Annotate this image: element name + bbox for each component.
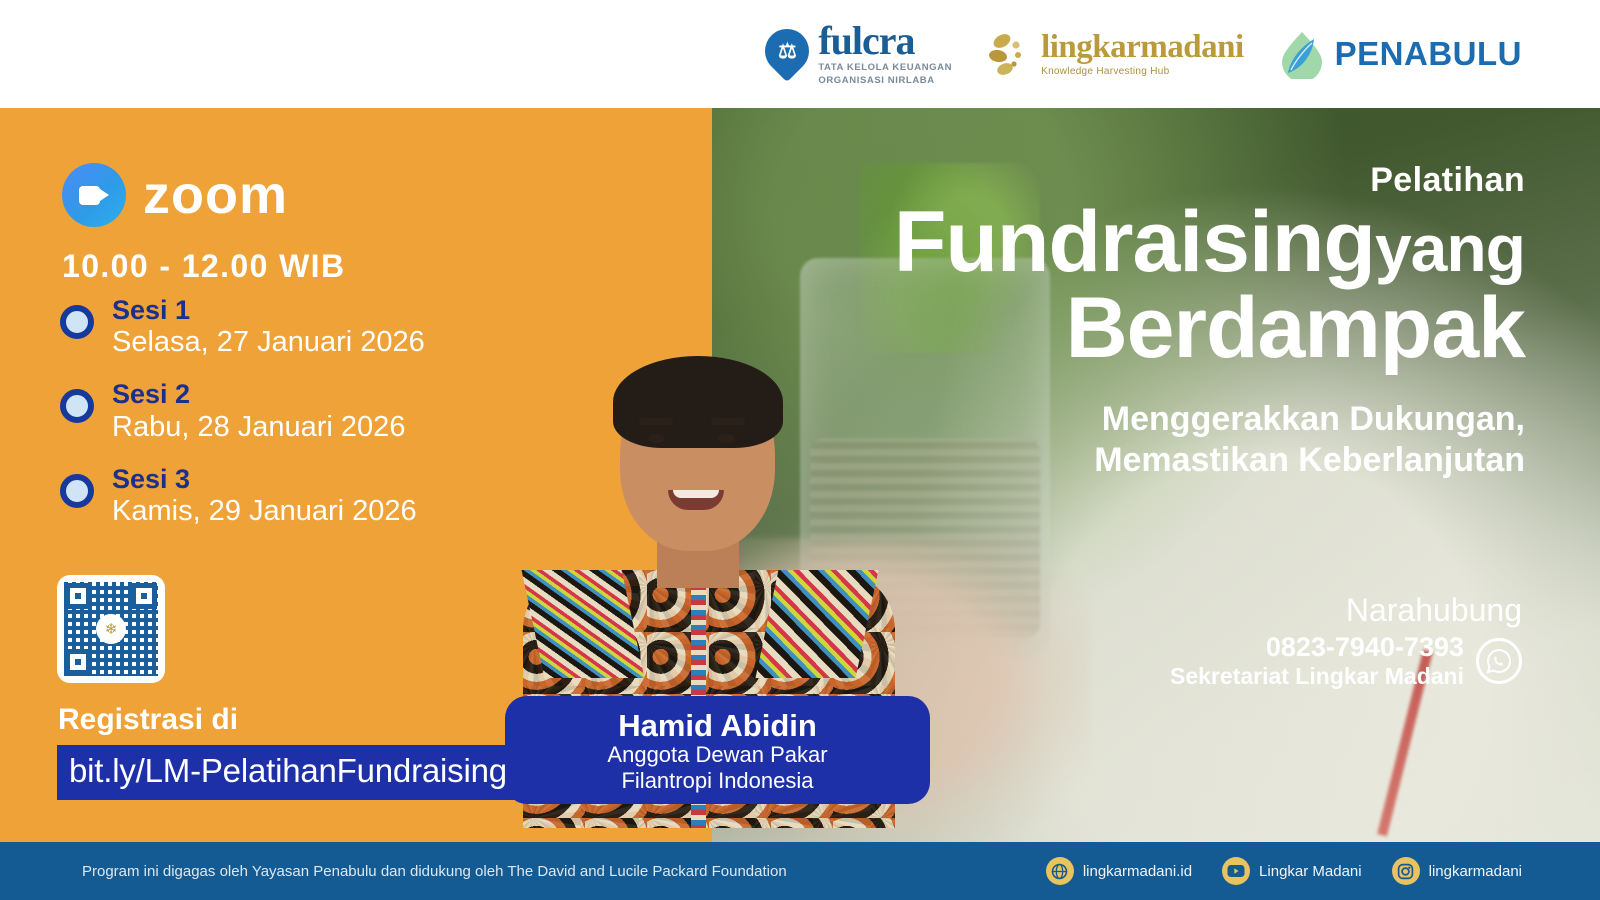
lingkarmadani-logo: lingkarmadani Knowledge Harvesting Hub [986,29,1244,79]
social-links: lingkarmadani.id Lingkar Madani lingkarm… [1046,857,1522,885]
headline-line1: Fundraisingyang [894,199,1525,285]
headline-subtitle: Menggerakkan Dukungan, Memastikan Keberl… [894,399,1525,482]
session-title: Sesi 1 [112,296,425,325]
speaker-role-line1: Anggota Dewan Pakar [505,742,930,767]
lingkarmadani-wordmark: lingkarmadani [1041,31,1244,64]
social-website-label: lingkarmadani.id [1083,863,1192,880]
balance-scale-pin-icon: ⚖ [765,29,809,79]
session-time: 10.00 - 12.00 WIB [62,248,346,285]
penabulu-wordmark: PENABULU [1335,35,1522,73]
fulcra-tagline-2: ORGANISASI NIRLABA [818,75,952,87]
instagram-icon [1392,857,1420,885]
youtube-icon [1222,857,1250,885]
penabulu-logo: PENABULU [1278,29,1522,79]
contact-phone[interactable]: 0823-7940-7393 [1170,632,1464,663]
zoom-video-camera-icon [62,163,126,227]
bullet-icon [60,389,94,423]
fulcra-wordmark: fulcra [818,21,952,61]
fulcra-logo: ⚖ fulcra TATA KELOLA KEUANGAN ORGANISASI… [765,21,952,87]
green-leaf-feather-icon [1278,29,1326,79]
whatsapp-icon[interactable] [1476,638,1522,684]
hair [613,356,783,448]
headline-line2: Berdampak [894,285,1525,371]
social-instagram-label: lingkarmadani [1429,863,1522,880]
headline-subtitle-line1: Menggerakkan Dukungan, [894,399,1525,440]
registration-link[interactable]: bit.ly/LM-PelatihanFundraising [57,745,519,800]
headline-line1-bold: Fundraising [894,194,1375,290]
social-instagram[interactable]: lingkarmadani [1392,857,1522,885]
main-content: Pelatihan Fundraisingyang Berdampak Meng… [0,108,1600,842]
session-title: Sesi 2 [112,380,405,409]
lingkarmadani-petals-icon: ❄ [96,614,126,644]
headline-subtitle-line2: Memastikan Keberlanjutan [894,440,1525,481]
eyebrow-left [639,418,673,425]
contact-block: Narahubung 0823-7940-7393 Sekretariat Li… [1170,593,1522,690]
qr-code-icon[interactable]: ❄ [57,575,165,683]
eye-right [718,434,735,443]
zoom-platform-logo: zoom [62,163,288,227]
zoom-wordmark: zoom [143,168,288,222]
social-website[interactable]: lingkarmadani.id [1046,857,1192,885]
bullet-icon [60,474,94,508]
session-title: Sesi 3 [112,465,417,494]
social-youtube[interactable]: Lingkar Madani [1222,857,1362,885]
footer-bar: Program ini digagas oleh Yayasan Penabul… [0,842,1600,900]
eye-left [648,434,665,443]
speaker-name: Hamid Abidin [505,709,930,742]
bullet-icon [60,305,94,339]
session-date: Selasa, 27 Januari 2026 [112,327,425,358]
headline-line1-thin: yang [1375,211,1525,285]
lingkarmadani-tagline: Knowledge Harvesting Hub [1041,67,1244,77]
session-date: Kamis, 29 Januari 2026 [112,496,417,527]
headline-pretitle: Pelatihan [894,163,1525,197]
eyebrow-right [711,418,745,425]
footer-note: Program ini digagas oleh Yayasan Penabul… [82,863,787,880]
fulcra-tagline-1: TATA KELOLA KEUANGAN [818,62,952,74]
speaker-nameplate: Hamid Abidin Anggota Dewan Pakar Filantr… [505,696,930,804]
promo-banner: ⚖ fulcra TATA KELOLA KEUANGAN ORGANISASI… [0,0,1600,900]
contact-title: Narahubung [1170,593,1522,628]
partner-logo-bar: ⚖ fulcra TATA KELOLA KEUANGAN ORGANISASI… [0,0,1600,108]
session-date: Rabu, 28 Januari 2026 [112,412,405,443]
globe-icon [1046,857,1074,885]
registration-label: Registrasi di [58,703,238,737]
gold-petals-icon [986,29,1032,79]
headline-block: Pelatihan Fundraisingyang Berdampak Meng… [894,163,1525,482]
speaker-role-line2: Filantropi Indonesia [505,768,930,793]
contact-org: Sekretariat Lingkar Madani [1170,663,1464,689]
social-youtube-label: Lingkar Madani [1259,863,1362,880]
